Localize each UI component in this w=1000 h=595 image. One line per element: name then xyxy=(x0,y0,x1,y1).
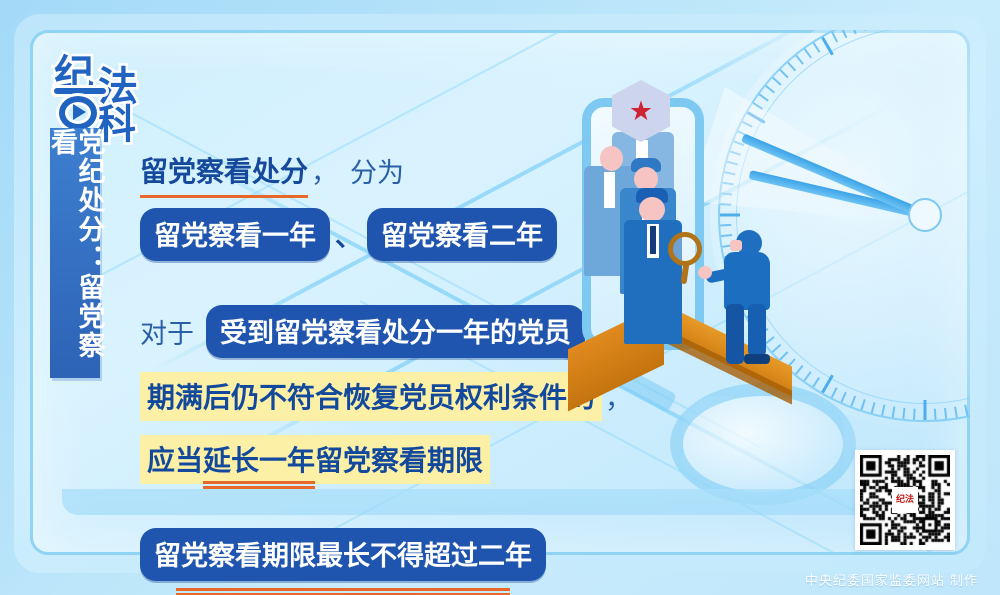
main-text-block: 留党察看处分 ， 分为 留党察看一年 、 留党察看二年 对于 受到留党察看处分一… xyxy=(140,150,570,581)
vertical-title-bar: 党纪处分：留党察看 xyxy=(50,128,100,378)
qr-code[interactable]: 纪法 xyxy=(855,450,955,550)
highlight-extension: 应当延长一年留党察看期限 xyxy=(140,435,490,484)
logo-char-bai-play-icon xyxy=(56,88,104,132)
line3-prefix: 对于 xyxy=(140,312,206,351)
line2-separator: 、 xyxy=(330,215,367,254)
line1-comma: ， xyxy=(308,151,338,190)
text-line-4: 期满后仍不符合恢复党员权利条件的 ， xyxy=(140,372,570,421)
line1-emphasis: 留党察看处分 xyxy=(140,150,308,190)
brand-logo: 纪 法 科 xyxy=(54,44,150,136)
walking-person-figure xyxy=(718,230,788,370)
line5-underlined: 延长一年 xyxy=(203,444,315,477)
star-glyph: ★ xyxy=(629,98,653,125)
text-line-2: 留党察看一年 、 留党察看二年 xyxy=(140,208,570,261)
illustration: ★ xyxy=(560,80,800,410)
text-line-1: 留党察看处分 ， 分为 xyxy=(140,150,570,190)
text-line-3: 对于 受到留党察看处分一年的党员 ， xyxy=(140,305,570,358)
footer-credit: 中央纪委国家监委网站 制作 xyxy=(805,570,978,589)
badge-member-one-year: 受到留党察看处分一年的党员 xyxy=(206,305,585,358)
line1-rest: 分为 xyxy=(338,151,404,190)
line5-suffix: 留党察看期限 xyxy=(315,444,483,477)
qr-center-logo: 纪法 xyxy=(892,487,918,513)
badge-one-year: 留党察看一年 xyxy=(140,208,330,261)
magnifying-glass-icon xyxy=(668,232,706,284)
text-line-5: 应当延长一年留党察看期限 xyxy=(140,435,570,484)
highlight-condition: 期满后仍不符合恢复党员权利条件的 xyxy=(140,372,602,421)
badge-max-two-year: 留党察看期限最长不得超过二年 xyxy=(140,528,546,581)
vertical-title-text: 党纪处分：留党察看 xyxy=(47,128,102,378)
poster-canvas: 纪 法 科 党纪处分：留党察看 留党察看处分 ， 分为 留党察看一年 、 留党察… xyxy=(0,0,1000,595)
officials-group xyxy=(584,110,710,350)
badge-two-year: 留党察看二年 xyxy=(367,208,557,261)
text-line-6: 留党察看期限最长不得超过二年 xyxy=(140,528,570,581)
line5-prefix: 应当 xyxy=(147,444,203,477)
